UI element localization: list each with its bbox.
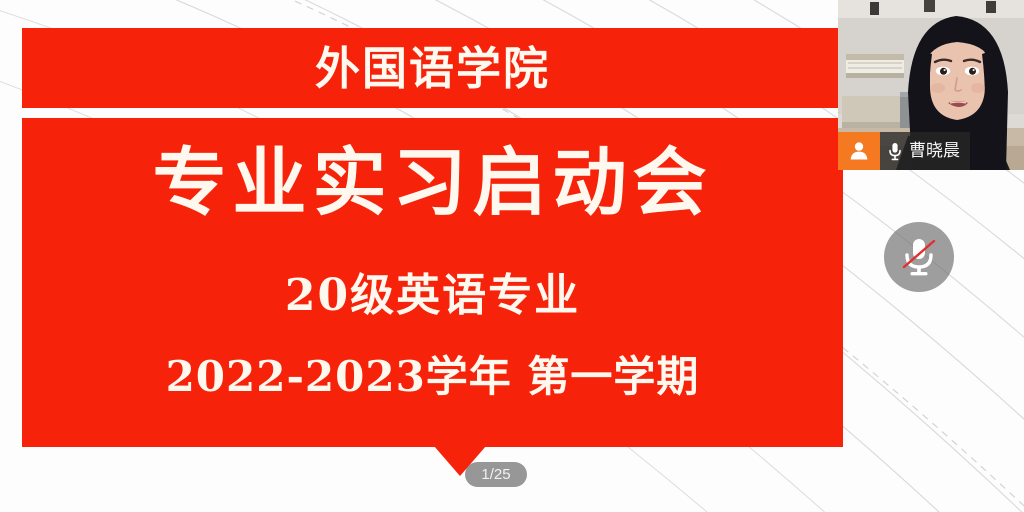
slide-main-title: 专业实习启动会 [22, 146, 843, 220]
slide-subtitle-term: 2022-2023学年 第一学期 [22, 356, 843, 398]
mute-toggle-button[interactable] [884, 222, 954, 292]
participant-name-bar: 曹晓晨 [838, 132, 970, 170]
slide-body-block: 专业实习启动会 20级英语专业 2022-2023学年 第一学期 [22, 118, 843, 447]
microphone-muted-icon [900, 235, 938, 279]
participant-name-strip: 曹晓晨 [880, 132, 970, 170]
page-indicator: 1/25 [465, 462, 527, 487]
slide-header-banner: 外国语学院 [22, 28, 843, 108]
slide-subtitle-major: 20级英语专业 [22, 274, 843, 318]
participant-video-tile[interactable]: 曹晓晨 [838, 0, 1024, 170]
participant-name: 曹晓晨 [909, 143, 960, 160]
microphone-icon [888, 142, 902, 161]
slide-header-text: 外国语学院 [315, 46, 550, 91]
person-icon [838, 132, 880, 170]
screen-share-view: 外国语学院 专业实习启动会 20级英语专业 2022-2023学年 第一学期 1… [0, 0, 1024, 512]
